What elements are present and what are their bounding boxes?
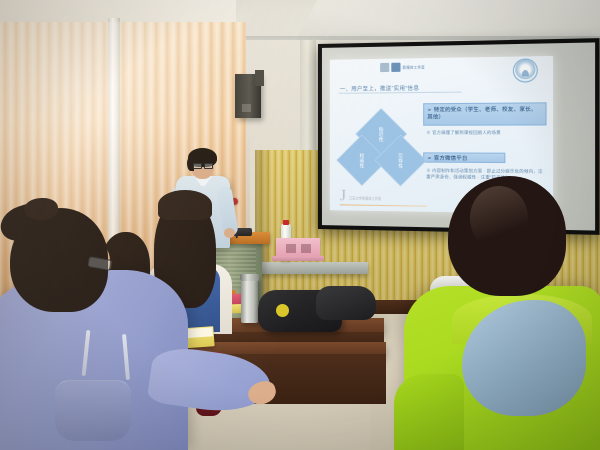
name-card-text-block — [286, 244, 296, 253]
diagram-label-left: 权威性 — [344, 142, 380, 179]
travel-mug — [241, 277, 258, 323]
name-card-text-block — [301, 244, 311, 253]
speaker-bracket — [255, 70, 264, 86]
studio-logo: 新媒体工作室 — [380, 62, 425, 72]
wall-speaker-icon — [235, 74, 261, 118]
j-logo-icon: J — [340, 189, 346, 202]
black-bag-secondary — [316, 286, 376, 320]
classroom-photo: 新媒体工作室 一、用户至上，推送“实用”信息 ➢ 特定的受众（学生、老师、校友、… — [0, 0, 600, 450]
logo-mark-icon — [380, 63, 389, 72]
logo-mark-icon — [391, 63, 400, 72]
student-right-arm — [394, 374, 464, 450]
pink-name-card — [276, 238, 320, 258]
slide-body-1: ※ 官方搞懂了解到课程回顾人的场景 — [426, 130, 545, 136]
hoodie-pocket — [55, 380, 131, 441]
slide-footer-rule — [340, 205, 427, 207]
bottle-cap — [283, 220, 289, 225]
name-card-base — [272, 256, 324, 261]
slide-footer: J 江苏大学新媒体工作室 — [340, 189, 381, 203]
eyeglasses-icon — [193, 163, 212, 167]
slide-header: 新媒体工作室 — [330, 56, 553, 82]
slide-footer-text: 江苏大学新媒体工作室 — [349, 195, 381, 203]
mug-lid — [240, 274, 259, 281]
slide-highlight-1: ➢ 特定的受众（学生、老师、校友、家长、其他） — [423, 102, 546, 125]
studio-logo-text: 新媒体工作室 — [403, 65, 425, 69]
slide-highlight-2: ➢ 官方微信平台 — [423, 152, 505, 163]
student-ponytail-top — [24, 198, 58, 220]
student-blue-vest-hair-top — [158, 190, 212, 220]
speaker-port — [242, 104, 251, 112]
university-seal-icon — [513, 58, 538, 82]
slide-title-rule — [339, 92, 462, 94]
bag-ring-icon — [276, 304, 289, 317]
student-hair-highlight — [470, 186, 528, 250]
presenter-hand — [224, 228, 235, 238]
diagram-label-right: 引导性 — [382, 142, 419, 179]
